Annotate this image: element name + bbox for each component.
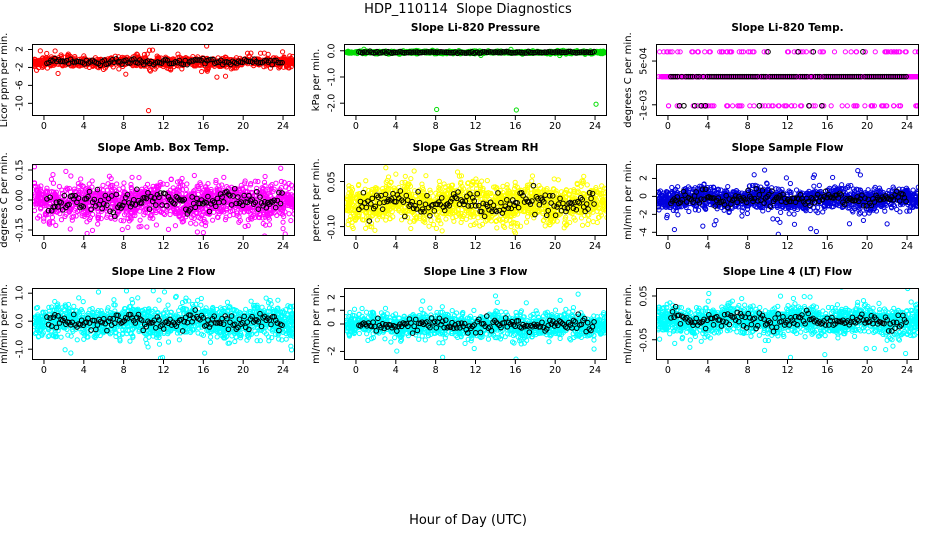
- plot-area-slope-line-3-flow: [344, 288, 607, 360]
- ytick-label: -4: [640, 228, 650, 237]
- xtick-label: 12: [781, 242, 793, 252]
- yaxis-label-slope-li820-pressure: kPa per min.: [312, 49, 322, 112]
- panel-slope-line-3-flow: Slope Line 3 Flow04812162024210-2ml/min …: [312, 266, 624, 390]
- ytick-label: 0.15: [16, 159, 26, 180]
- xtick-label: 16: [821, 366, 833, 376]
- xtick-label: 0: [665, 242, 671, 252]
- xtick-label: 4: [81, 242, 87, 252]
- ytick-label: 1.0: [16, 286, 26, 301]
- xtick-label: 0: [353, 122, 359, 132]
- plot-area-slope-li820-co2: [32, 44, 295, 116]
- xtick-label: 8: [433, 242, 439, 252]
- xtick-label: 20: [549, 122, 561, 132]
- panel-slope-line-4-lt-flow: Slope Line 4 (LT) Flow048121620240.05-0.…: [624, 266, 936, 390]
- ytick-label: -1e-03: [640, 89, 650, 120]
- ytick-label: -0.05: [640, 327, 650, 352]
- xtick-label: 16: [197, 122, 209, 132]
- xtick-label: 24: [277, 122, 289, 132]
- xtick-label: 12: [469, 242, 481, 252]
- plot-area-slope-amb-box-temp: [32, 164, 295, 236]
- xtick-label: 24: [901, 122, 913, 132]
- yaxis-label-slope-line-3-flow: ml/min per min.: [312, 284, 322, 364]
- ytick-label: 0: [328, 321, 338, 327]
- xtick-label: 24: [901, 242, 913, 252]
- panel-slope-li820-temp: Slope Li-820 Temp.048121620245e-04-1e-03…: [624, 22, 936, 146]
- xtick-label: 4: [393, 242, 399, 252]
- plot-area-slope-gas-stream-rh: [344, 164, 607, 236]
- xtick-label: 16: [821, 122, 833, 132]
- ytick-label: 2: [328, 294, 338, 300]
- panel-title-slope-li820-temp: Slope Li-820 Temp.: [656, 22, 919, 34]
- ytick-label: -6: [16, 81, 26, 90]
- xtick-label: 8: [433, 366, 439, 376]
- yaxis-label-slope-gas-stream-rh: percent per min.: [312, 158, 322, 241]
- scatter-points-slope-gas-stream-rh: [345, 165, 607, 236]
- xtick-label: 20: [861, 366, 873, 376]
- plot-area-slope-line-2-flow: [32, 288, 295, 360]
- xtick-label: 0: [665, 366, 671, 376]
- scatter-points-slope-li820-temp: [657, 45, 919, 116]
- xtick-label: 8: [121, 366, 127, 376]
- xtick-label: 24: [589, 242, 601, 252]
- xtick-label: 4: [705, 366, 711, 376]
- panel-title-slope-sample-flow: Slope Sample Flow: [656, 142, 919, 154]
- yaxis-label-slope-li820-temp: degrees C per min.: [624, 32, 634, 127]
- xtick-label: 24: [589, 122, 601, 132]
- ytick-label: 0.0: [328, 43, 338, 58]
- panel-slope-li820-co2: Slope Li-820 CO2048121620242-2-6-10Licor…: [0, 22, 312, 146]
- panel-slope-sample-flow: Slope Sample Flow0481216202420-2-4ml/min…: [624, 142, 936, 266]
- xtick-label: 16: [197, 366, 209, 376]
- ytick-label: -1.0: [16, 340, 26, 359]
- yaxis-label-slope-line-2-flow: ml/min per min.: [0, 284, 10, 364]
- xtick-label: 8: [121, 122, 127, 132]
- xtick-label: 20: [237, 366, 249, 376]
- ytick-label: 2: [16, 46, 26, 52]
- xtick-label: 12: [469, 366, 481, 376]
- panel-slope-line-2-flow: Slope Line 2 Flow048121620241.00.0-1.0ml…: [0, 266, 312, 390]
- xtick-label: 20: [861, 242, 873, 252]
- xtick-label: 12: [157, 242, 169, 252]
- xtick-label: 20: [237, 122, 249, 132]
- xtick-label: 4: [393, 122, 399, 132]
- yaxis-label-slope-sample-flow: ml/min per min.: [624, 160, 634, 240]
- xtick-label: 4: [705, 122, 711, 132]
- xtick-label: 0: [41, 366, 47, 376]
- figure-canvas: HDP_110114 Slope Diagnostics Slope Li-82…: [0, 0, 936, 540]
- ytick-label: -2: [16, 63, 26, 72]
- xtick-label: 4: [81, 366, 87, 376]
- yaxis-label-slope-line-4-lt-flow: ml/min per min.: [624, 284, 634, 364]
- ytick-label: -0.10: [328, 214, 338, 239]
- xtick-label: 0: [41, 122, 47, 132]
- ytick-label: -2: [640, 210, 650, 219]
- ytick-label: -0.15: [16, 218, 26, 243]
- xtick-label: 8: [745, 242, 751, 252]
- panel-slope-amb-box-temp: Slope Amb. Box Temp.048121620240.150.00-…: [0, 142, 312, 266]
- xtick-label: 24: [277, 242, 289, 252]
- xtick-label: 24: [277, 366, 289, 376]
- xtick-label: 20: [549, 366, 561, 376]
- xtick-label: 12: [781, 122, 793, 132]
- xtick-label: 12: [469, 122, 481, 132]
- xtick-label: 0: [353, 242, 359, 252]
- panel-title-slope-li820-co2: Slope Li-820 CO2: [32, 22, 295, 34]
- ytick-label: 1: [328, 307, 338, 313]
- xtick-label: 8: [121, 242, 127, 252]
- scatter-points-slope-li820-pressure: [345, 45, 607, 116]
- plot-area-slope-li820-pressure: [344, 44, 607, 116]
- panel-slope-li820-pressure: Slope Li-820 Pressure048121620240.0-1.0-…: [312, 22, 624, 146]
- xtick-label: 16: [821, 242, 833, 252]
- xtick-label: 16: [509, 242, 521, 252]
- figure-xaxis-label: Hour of Day (UTC): [0, 513, 936, 528]
- scatter-points-slope-line-4-lt-flow: [657, 289, 919, 360]
- xtick-label: 24: [589, 366, 601, 376]
- ytick-label: 2: [640, 175, 650, 181]
- yaxis-label-slope-amb-box-temp: degrees C per min.: [0, 152, 10, 247]
- xtick-label: 24: [901, 366, 913, 376]
- xtick-label: 8: [745, 122, 751, 132]
- panel-title-slope-line-3-flow: Slope Line 3 Flow: [344, 266, 607, 278]
- ytick-label: 0.05: [640, 285, 650, 306]
- ytick-label: 0.00: [16, 189, 26, 210]
- scatter-points-slope-sample-flow: [657, 165, 919, 236]
- ytick-label: -2: [328, 347, 338, 356]
- xtick-label: 16: [509, 122, 521, 132]
- plot-area-slope-li820-temp: [656, 44, 919, 116]
- ytick-label: 5e-04: [640, 47, 650, 74]
- xtick-label: 4: [705, 242, 711, 252]
- plot-area-slope-sample-flow: [656, 164, 919, 236]
- page-title: HDP_110114 Slope Diagnostics: [0, 2, 936, 17]
- scatter-points-slope-amb-box-temp: [33, 165, 295, 236]
- ytick-label: 0: [640, 193, 650, 199]
- ytick-label: 0.05: [328, 171, 338, 192]
- xtick-label: 12: [781, 366, 793, 376]
- xtick-label: 12: [157, 366, 169, 376]
- xtick-label: 0: [353, 366, 359, 376]
- plot-area-slope-line-4-lt-flow: [656, 288, 919, 360]
- xtick-label: 20: [861, 122, 873, 132]
- ytick-label: -1.0: [328, 68, 338, 87]
- ytick-label: -2.0: [328, 94, 338, 113]
- scatter-points-slope-line-3-flow: [345, 289, 607, 360]
- panel-title-slope-line-2-flow: Slope Line 2 Flow: [32, 266, 295, 278]
- xtick-label: 8: [433, 122, 439, 132]
- xtick-label: 20: [549, 242, 561, 252]
- yaxis-label-slope-li820-co2: Licor ppm per min.: [0, 33, 10, 128]
- xtick-label: 8: [745, 366, 751, 376]
- xtick-label: 20: [237, 242, 249, 252]
- scatter-points-slope-line-2-flow: [33, 289, 295, 360]
- xtick-label: 16: [197, 242, 209, 252]
- panel-title-slope-gas-stream-rh: Slope Gas Stream RH: [344, 142, 607, 154]
- panel-title-slope-li820-pressure: Slope Li-820 Pressure: [344, 22, 607, 34]
- scatter-points-slope-li820-co2: [33, 45, 295, 116]
- xtick-label: 12: [157, 122, 169, 132]
- ytick-label: 0.0: [16, 314, 26, 329]
- xtick-label: 16: [509, 366, 521, 376]
- panel-slope-gas-stream-rh: Slope Gas Stream RH048121620240.05-0.10p…: [312, 142, 624, 266]
- xtick-label: 0: [665, 122, 671, 132]
- xtick-label: 0: [41, 242, 47, 252]
- ytick-label: -10: [16, 96, 26, 112]
- panel-title-slope-amb-box-temp: Slope Amb. Box Temp.: [32, 142, 295, 154]
- panel-title-slope-line-4-lt-flow: Slope Line 4 (LT) Flow: [656, 266, 919, 278]
- xtick-label: 4: [81, 122, 87, 132]
- xtick-label: 4: [393, 366, 399, 376]
